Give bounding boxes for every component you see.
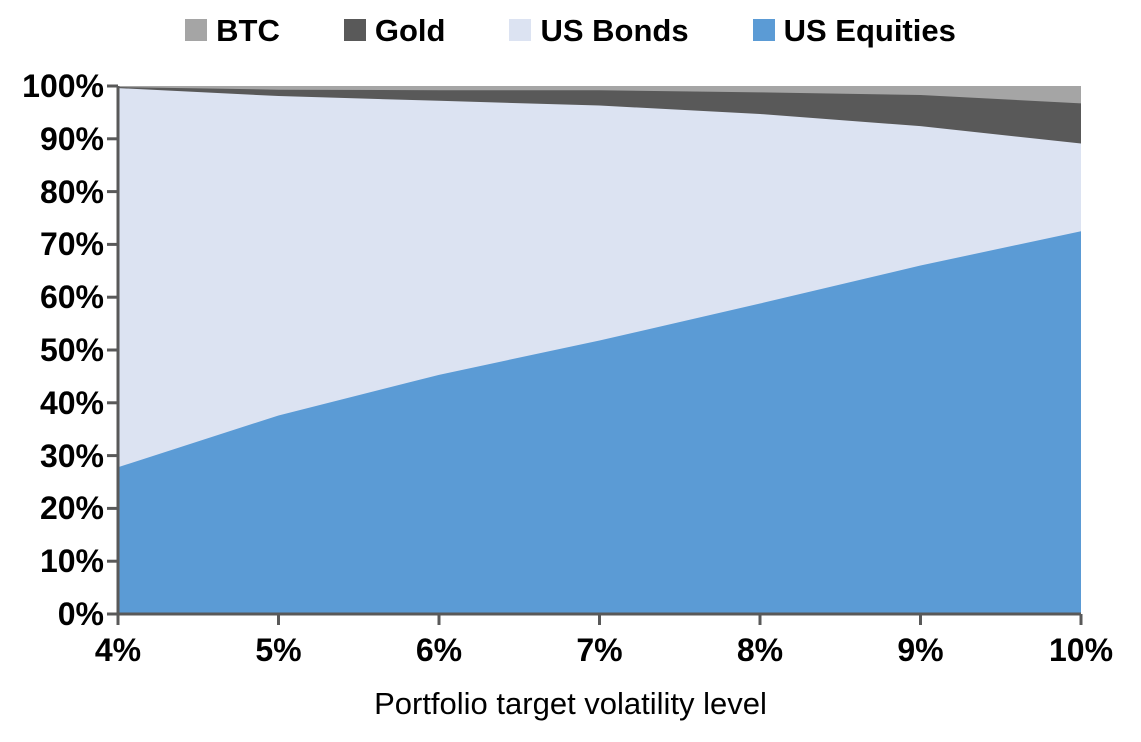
x-tick-label-9: 9%	[897, 634, 943, 666]
x-tick-label-8: 8%	[737, 634, 783, 666]
x-tick-label-4: 4%	[95, 634, 141, 666]
x-tick-label-7: 7%	[576, 634, 622, 666]
x-tick-label-5: 5%	[255, 634, 301, 666]
x-tick-label-6: 6%	[416, 634, 462, 666]
x-tick-label-10: 10%	[1049, 634, 1113, 666]
x-axis-tick-labels: 4%5%6%7%8%9%10%	[0, 0, 1141, 742]
x-axis-title: Portfolio target volatility level	[0, 688, 1141, 719]
